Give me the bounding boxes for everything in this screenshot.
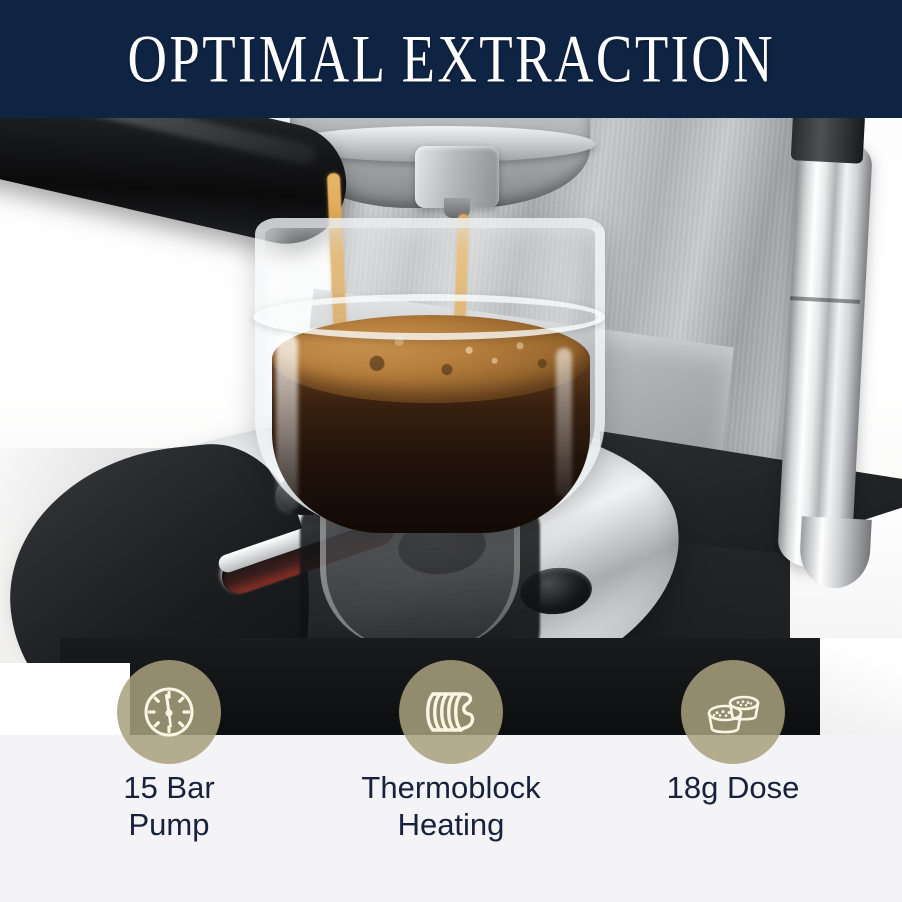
feature-badge-heating[interactable] (399, 660, 503, 764)
cup-highlight-left (276, 333, 298, 513)
feature-label-heating: Thermoblock Heating (311, 770, 591, 843)
photo-bottom-right-white (820, 638, 902, 735)
feature-badge-dose[interactable] (681, 660, 785, 764)
product-feature-poster: OPTIMAL EXTRACTION (0, 0, 902, 902)
header-banner: OPTIMAL EXTRACTION (0, 0, 902, 118)
feature-badge-pressure[interactable] (117, 660, 221, 764)
pressure-gauge-icon (137, 680, 201, 744)
page-title: OPTIMAL EXTRACTION (127, 21, 775, 98)
photo-bottom-left-white (0, 663, 130, 735)
feature-label-pressure: 15 Bar Pump (29, 770, 309, 843)
heating-coil-icon (419, 680, 483, 744)
filter-baskets-icon (701, 680, 765, 744)
cup-highlight-right (556, 348, 572, 498)
product-photo (0, 118, 902, 735)
feature-label-dose: 18g Dose (593, 770, 873, 807)
steam-wand-cap (791, 118, 866, 164)
cup-rim (253, 294, 605, 340)
